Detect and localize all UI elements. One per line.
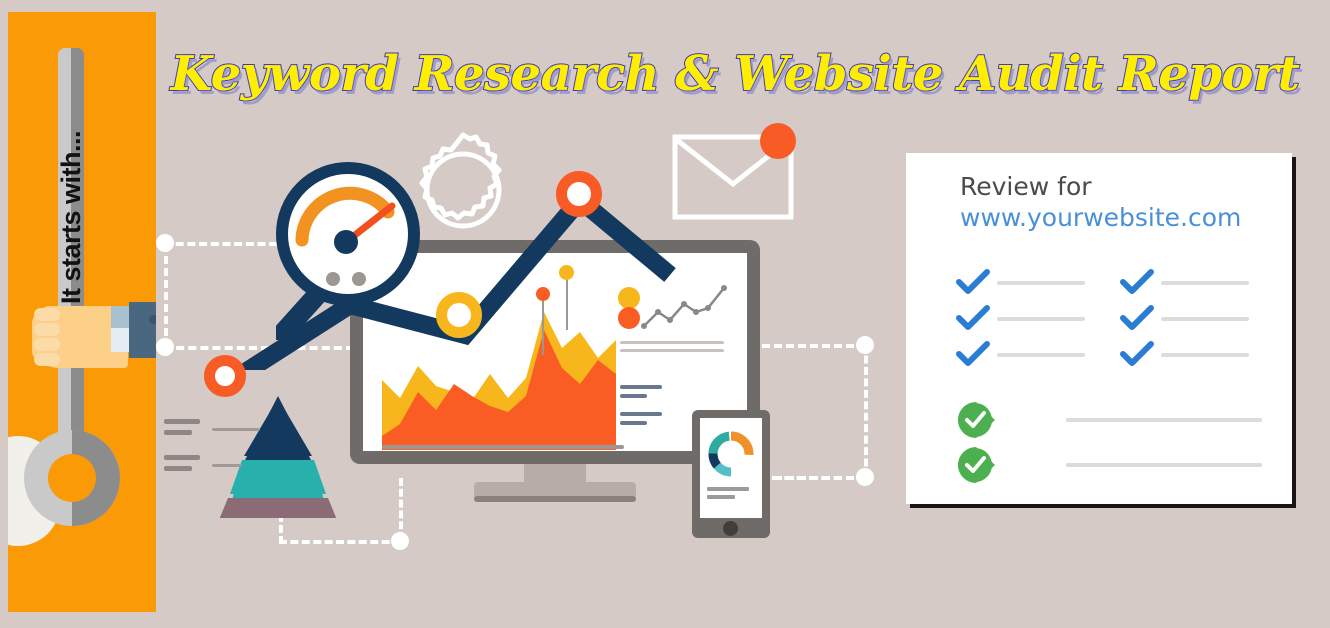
review-item-line [1161,317,1249,321]
marker-orange-ring-left [204,355,246,397]
page-title: Keyword Research & Website Audit Report [170,42,1300,106]
stub-line [164,430,192,435]
panel-word-top: WORDS [154,106,156,308]
speedometer-magnifier-icon [276,162,446,340]
stub-line [164,455,200,460]
connector-line-vertical [164,244,168,348]
chart-pin-stem [566,272,568,330]
review-card-heading: Review for [960,172,1092,201]
connector-line-horizontal [279,540,401,544]
marker-orange-ring [556,171,602,217]
chart-pin-dot-orange [536,287,550,301]
review-item-line [997,281,1085,285]
connector-line-horizontal [772,476,854,480]
phone-text-line [707,495,735,499]
check-icon [956,269,990,295]
review-item-line [997,317,1085,321]
sleeve [129,302,156,358]
connector-node [156,338,174,356]
panel-word-bottom: KEY [154,494,156,602]
chart-pin-dot-yellow [559,265,574,280]
monitor-text-rule [620,394,647,398]
hand-finger [34,353,60,366]
phone-home-button [723,521,738,536]
illustration-canvas: It starts with... WORDS KEY Keyword Rese… [0,0,1330,628]
hand-finger [34,338,60,351]
connector-node [856,468,874,486]
envelope-notification-dot [760,123,796,159]
monitor-text-rule [620,421,647,425]
key-ring-hole [48,454,96,502]
check-icon [1120,269,1154,295]
stub-line [212,428,260,431]
connector-line-horizontal [762,344,866,348]
upward-trend-sparkline [640,282,730,332]
monitor-text-rule [620,349,724,352]
chart-pin-stem [542,293,544,355]
review-item-line [1161,353,1249,357]
review-summary-line [1066,463,1262,467]
hand-finger [34,308,60,321]
review-item-line [997,353,1085,357]
chart-baseline [382,445,624,449]
connector-line-vertical [864,344,868,478]
sleeve-cuff-top [111,306,129,328]
monitor-text-rule [620,412,662,416]
verified-badge-icon [956,400,998,440]
check-icon [1120,305,1154,331]
check-icon [956,305,990,331]
check-icon [1120,341,1154,367]
review-item-line [1161,281,1249,285]
sleeve-button [149,315,156,324]
connector-node [156,234,174,252]
stub-line [164,419,200,424]
review-summary-line [1066,418,1262,422]
legend-dot-yellow [618,287,640,309]
stub-line [212,464,242,467]
pyramid-layers [210,394,346,518]
phone-text-line [707,487,749,491]
sleeve-cuff-bottom [111,328,129,352]
left-keyword-panel: It starts with... WORDS KEY [8,12,156,612]
legend-dot-orange [618,307,640,329]
monitor-text-rule [620,341,724,344]
panel-tagline: It starts with... [56,131,87,304]
check-icon [956,341,990,367]
stub-line [164,466,192,471]
monitor-base-edge [474,496,636,502]
verified-badge-icon [956,445,998,485]
connector-node [856,336,874,354]
donut-chart-icon [705,428,757,480]
connector-line-vertical [399,478,403,540]
review-card-url[interactable]: www.yourwebsite.com [960,203,1241,232]
hand-finger [34,323,60,336]
connector-node [391,532,409,550]
monitor-text-rule [620,385,662,389]
